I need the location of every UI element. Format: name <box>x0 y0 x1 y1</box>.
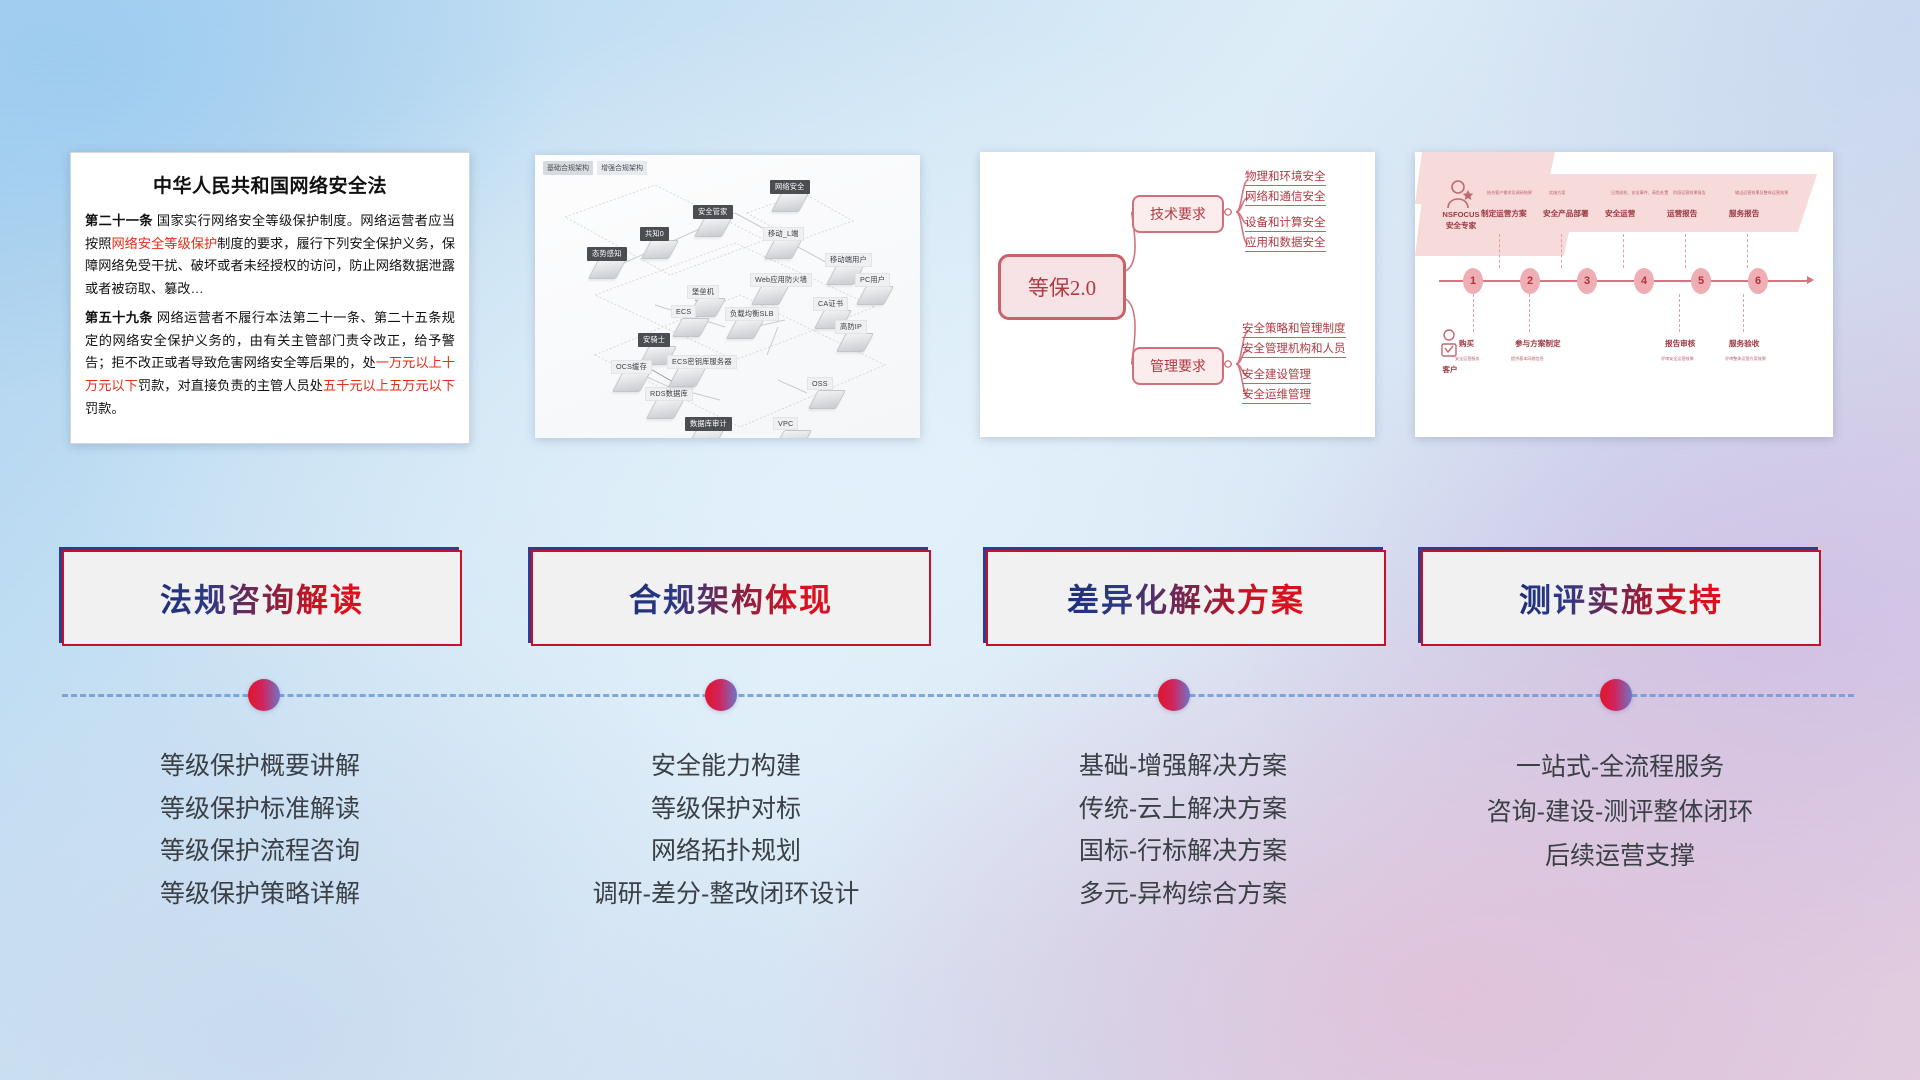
architecture-node-label[interactable]: 安骑士 <box>638 333 670 347</box>
feature-list-item: 国标-行标解决方案 <box>983 830 1383 873</box>
law-article-59-text-c: 罚款。 <box>85 401 125 416</box>
law-article-21-label: 第二十一条 <box>85 213 153 228</box>
section-title-text: 测评实施支持 <box>1519 575 1723 621</box>
architecture-node-label[interactable]: 移动端用户 <box>825 253 872 267</box>
feature-list-item: 多元-异构综合方案 <box>983 873 1383 916</box>
architecture-node-label[interactable]: ECS <box>671 305 696 318</box>
timeline-connector-dash <box>1679 294 1681 332</box>
timeline-bottom-band-left <box>1415 152 1555 204</box>
timeline-dot-1[interactable] <box>248 679 280 711</box>
timeline-step-title[interactable]: 制定运营方案 <box>1481 208 1527 219</box>
architecture-node-label[interactable]: OSS <box>807 377 833 390</box>
mindmap-leaf[interactable]: 应用和数据安全 <box>1245 234 1326 252</box>
architecture-node-label[interactable]: ECS密钥库服务器 <box>667 355 737 369</box>
timeline-step-subtitle: 实施方案 <box>1549 190 1565 196</box>
timeline-step-subtitle: 日常巡检、安全事件、高危处置 <box>1611 190 1668 196</box>
law-article-59: 第五十九条 网络运营者不履行本法第二十一条、第二十五条规定的网络安全保护义务的，… <box>85 307 455 421</box>
timeline-step-node[interactable]: 5 <box>1691 268 1711 294</box>
brand-name: NSFOCUS <box>1437 210 1485 219</box>
brand-subtitle: 安全专家 <box>1437 220 1485 231</box>
timeline-dot-2[interactable] <box>705 679 737 711</box>
timeline-dashed-line <box>62 694 1854 697</box>
mindmap-branch-management[interactable]: 管理要求 <box>1132 347 1224 385</box>
feature-list-2: 安全能力构建等级保护对标网络拓扑规划调研-差分-整改闭环设计 <box>526 745 926 915</box>
timeline-connector-dash <box>1473 294 1475 332</box>
architecture-node-label[interactable]: RDS数据库 <box>645 387 693 401</box>
timeline-step-subtitle: 评审整体运营方案效果 <box>1725 356 1766 362</box>
timeline-step-title[interactable]: 购买 <box>1459 338 1474 349</box>
feature-list-item: 网络拓扑规划 <box>526 830 926 873</box>
timeline-step-title[interactable]: 报告审核 <box>1665 338 1695 349</box>
feature-list-item: 传统-云上解决方案 <box>983 788 1383 831</box>
law-title: 中华人民共和国网络安全法 <box>85 171 455 198</box>
feature-list-item: 一站式-全流程服务 <box>1420 745 1820 790</box>
mindmap-leaf[interactable]: 设备和计算安全 <box>1245 214 1326 232</box>
timeline-step-title[interactable]: 运营报告 <box>1667 208 1697 219</box>
feature-list-item: 调研-差分-整改闭环设计 <box>526 873 926 916</box>
mindmap-leaf[interactable]: 网络和通信安全 <box>1245 188 1326 206</box>
timeline-step-subtitle: 输出运营效果及整体运营效果 <box>1735 190 1788 196</box>
card-service-timeline[interactable]: NSFOCUS 安全专家 客户 123456 结合客户需求及调研结果制定运营方案… <box>1415 152 1833 437</box>
architecture-node-label[interactable]: 数据库审计 <box>685 417 732 431</box>
customer-label: 客户 <box>1433 364 1467 375</box>
feature-list-4: 一站式-全流程服务咨询-建设-测评整体闭环后续运营支撑 <box>1420 745 1820 879</box>
mindmap-leaf[interactable]: 安全建设管理 <box>1242 366 1311 384</box>
card-cloud-architecture[interactable]: 基础合规架构 增强合规架构 网络安全安全管家共知0态势感知移动_L端堡垒机Web… <box>535 155 920 438</box>
timeline-step-node[interactable]: 4 <box>1634 268 1654 294</box>
timeline-dot-3[interactable] <box>1158 679 1190 711</box>
section-title-text: 差异化解决方案 <box>1067 575 1305 621</box>
mindmap-leaf[interactable]: 安全策略和管理制度 <box>1242 320 1346 338</box>
law-article-59-highlight-2: 五千元以上五万元以下 <box>323 378 455 393</box>
timeline-step-subtitle: 提供基本网络信息 <box>1511 356 1544 362</box>
feature-list-item: 等级保护标准解读 <box>60 788 460 831</box>
mindmap-branch-technical[interactable]: 技术要求 <box>1132 195 1224 233</box>
architecture-diagram: 基础合规架构 增强合规架构 网络安全安全管家共知0态势感知移动_L端堡垒机Web… <box>535 155 920 438</box>
architecture-node-label[interactable]: 共知0 <box>640 227 669 241</box>
law-article-59-label: 第五十九条 <box>85 310 153 325</box>
timeline-arrow-icon <box>1807 276 1814 284</box>
section-title-text: 法规咨询解读 <box>160 575 364 621</box>
service-timeline-diagram: NSFOCUS 安全专家 客户 123456 结合客户需求及调研结果制定运营方案… <box>1415 152 1833 437</box>
timeline-step-title[interactable]: 安全运营 <box>1605 208 1635 219</box>
feature-list-3: 基础-增强解决方案传统-云上解决方案国标-行标解决方案多元-异构综合方案 <box>983 745 1383 915</box>
timeline-step-subtitle: 结合客户需求及调研结果 <box>1487 190 1532 196</box>
feature-list-1: 等级保护概要讲解等级保护标准解读等级保护流程咨询等级保护策略详解 <box>60 745 460 915</box>
feature-list-item: 等级保护概要讲解 <box>60 745 460 788</box>
feature-list-item: 等级保护对标 <box>526 788 926 831</box>
architecture-node-label[interactable]: 网络安全 <box>770 180 810 194</box>
architecture-node-label[interactable]: OCS缓存 <box>611 360 652 374</box>
feature-list-item: 等级保护流程咨询 <box>60 830 460 873</box>
mindmap-diagram: 等保2.0 技术要求 管理要求 物理和环境安全 网络和通信安全 设备和计算安全 … <box>980 152 1375 437</box>
feature-list-item: 基础-增强解决方案 <box>983 745 1383 788</box>
timeline-step-node[interactable]: 3 <box>1577 268 1597 294</box>
architecture-node-label[interactable]: CA证书 <box>813 297 848 311</box>
timeline-step-subtitle: 阶段运营效果报告 <box>1673 190 1706 196</box>
timeline-connector-dash <box>1685 234 1687 268</box>
timeline-step-title[interactable]: 参与方案制定 <box>1515 338 1561 349</box>
timeline-connector-dash <box>1529 294 1531 332</box>
architecture-node-label[interactable]: 安全管家 <box>693 205 733 219</box>
section-title-box-3[interactable]: 差异化解决方案 <box>986 550 1386 646</box>
timeline-step-node[interactable]: 2 <box>1520 268 1540 294</box>
feature-list-item: 后续运营支撑 <box>1420 834 1820 879</box>
timeline-dot-4[interactable] <box>1600 679 1632 711</box>
law-article-59-text-b: 罚款，对直接负责的主管人员处 <box>138 378 323 393</box>
architecture-node-label[interactable]: Web应用防火墙 <box>750 273 812 287</box>
architecture-node-label[interactable]: PC用户 <box>855 273 890 287</box>
card-law-document[interactable]: 中华人民共和国网络安全法 第二十一条 国家实行网络安全等级保护制度。网络运营者应… <box>70 152 470 444</box>
timeline-connector-dash <box>1561 234 1563 268</box>
architecture-node-label[interactable]: VPC <box>773 417 798 430</box>
architecture-node-label[interactable]: 堡垒机 <box>687 285 719 299</box>
timeline-step-title[interactable]: 服务验收 <box>1729 338 1759 349</box>
law-article-21: 第二十一条 国家实行网络安全等级保护制度。网络运营者应当按照网络安全等级保护制度… <box>85 210 455 301</box>
mindmap-leaf[interactable]: 安全运维管理 <box>1242 386 1311 404</box>
architecture-node-label[interactable]: 高防IP <box>835 320 867 334</box>
section-title-box-4[interactable]: 测评实施支持 <box>1421 550 1821 646</box>
section-title-text: 合规架构体现 <box>629 575 833 621</box>
mindmap-leaf[interactable]: 安全管理机构和人员 <box>1242 340 1346 358</box>
architecture-node-label[interactable]: 移动_L端 <box>763 227 804 241</box>
timeline-connector-dash <box>1499 234 1501 268</box>
law-article-21-highlight: 网络安全等级保护 <box>111 236 217 251</box>
timeline-connector-dash <box>1747 234 1749 268</box>
feature-list-item: 安全能力构建 <box>526 745 926 788</box>
timeline-step-subtitle: 安全运营服务 <box>1455 356 1480 362</box>
timeline-connector-dash <box>1623 234 1625 268</box>
feature-list-item: 等级保护策略详解 <box>60 873 460 916</box>
feature-list-item: 咨询-建设-测评整体闭环 <box>1420 790 1820 835</box>
mindmap-leaf[interactable]: 物理和环境安全 <box>1245 168 1326 186</box>
section-title-box-1[interactable]: 法规咨询解读 <box>62 550 462 646</box>
architecture-node-label[interactable]: 态势感知 <box>587 247 627 261</box>
section-title-box-2[interactable]: 合规架构体现 <box>531 550 931 646</box>
timeline-step-node[interactable]: 1 <box>1463 268 1483 294</box>
timeline-step-title[interactable]: 安全产品部署 <box>1543 208 1589 219</box>
timeline-step-node[interactable]: 6 <box>1748 268 1768 294</box>
timeline-step-subtitle: 评审安全运营效果 <box>1661 356 1694 362</box>
timeline-step-title[interactable]: 服务报告 <box>1729 208 1759 219</box>
card-mindmap[interactable]: 等保2.0 技术要求 管理要求 物理和环境安全 网络和通信安全 设备和计算安全 … <box>980 152 1375 437</box>
architecture-node-label[interactable]: 负载均衡SLB <box>725 307 779 321</box>
mindmap-root-node[interactable]: 等保2.0 <box>998 254 1126 320</box>
timeline-connector-dash <box>1743 294 1745 332</box>
